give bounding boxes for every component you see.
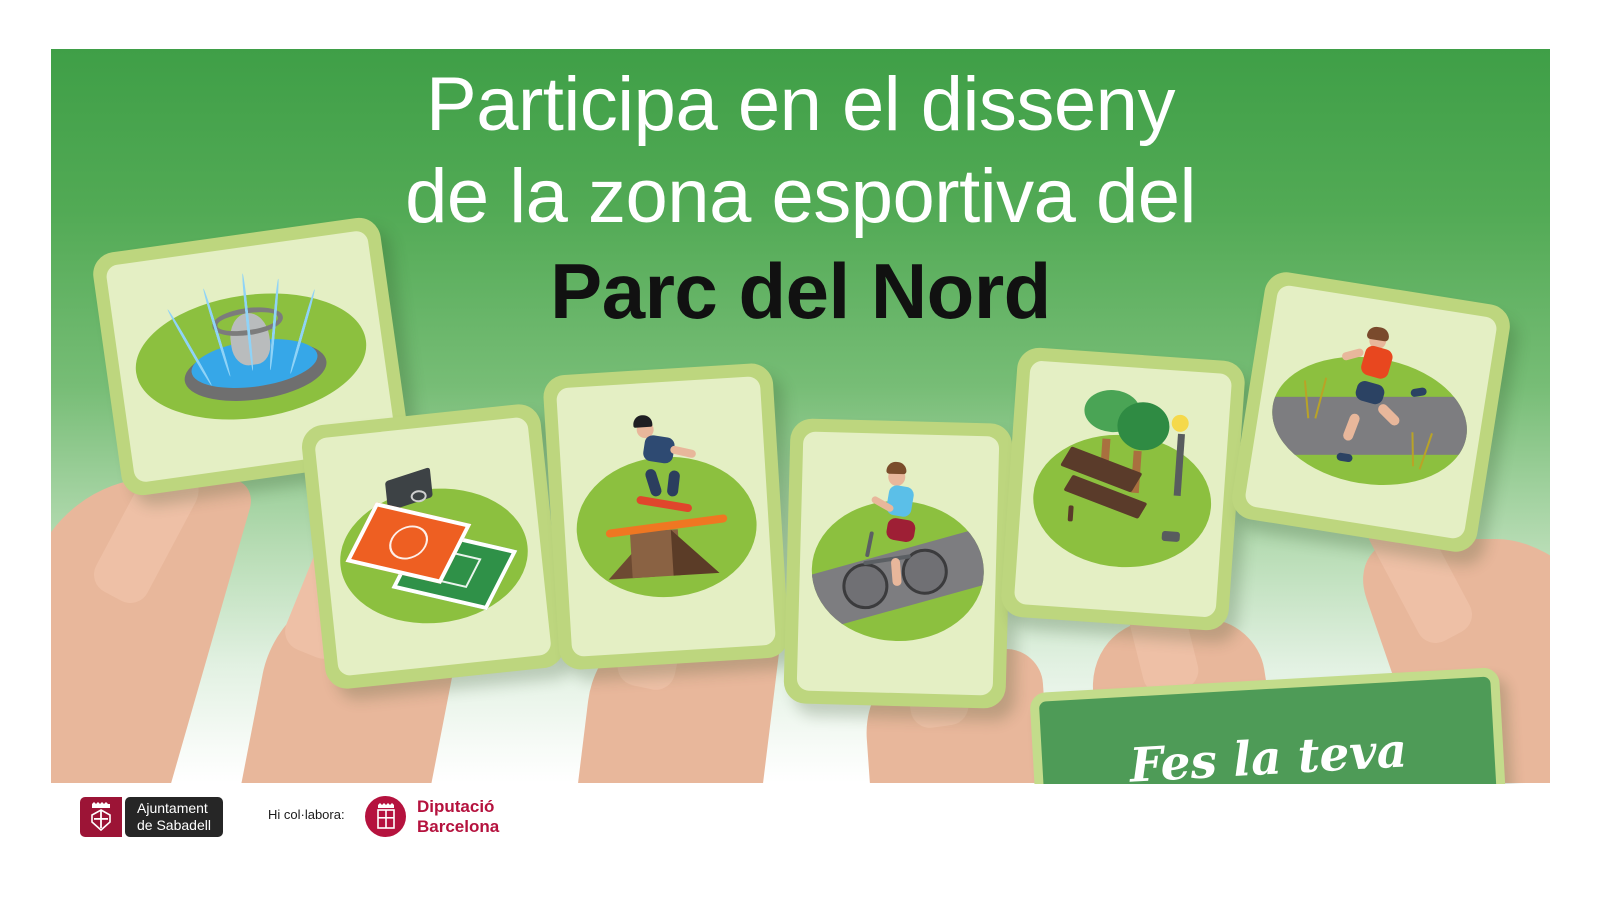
ajuntament-wordmark: Ajuntament de Sabadell	[125, 797, 223, 837]
ajuntament-sabadell-logo[interactable]: Ajuntament de Sabadell	[80, 797, 223, 837]
sports-court-card-face	[314, 416, 552, 676]
ajuntament-line-2: de Sabadell	[137, 817, 211, 834]
running-path-card[interactable]	[1229, 269, 1513, 555]
headline-line-1: Participa en el disseny	[51, 59, 1550, 151]
poster-banner: Participa en el disseny de la zona espor…	[51, 49, 1550, 783]
diputacio-line-2: Barcelona	[417, 817, 499, 837]
ramp-right-icon	[671, 527, 720, 576]
bike-path-card[interactable]	[783, 418, 1012, 709]
sabadell-crest-icon	[80, 797, 122, 837]
skatepark-card-face	[556, 376, 776, 657]
lamppost-base-icon	[1162, 531, 1181, 542]
diputacio-line-1: Diputació	[417, 797, 499, 817]
court-arc-line	[383, 522, 435, 563]
diputacio-wordmark: Diputació Barcelona	[417, 797, 499, 837]
grass-tuft-right-icon	[1411, 433, 1414, 467]
ajuntament-line-1: Ajuntament	[137, 800, 211, 817]
running-path-icon	[1263, 397, 1476, 455]
poster-stage: Participa en el disseny de la zona espor…	[0, 0, 1600, 900]
skatepark-card[interactable]	[542, 362, 790, 670]
diputacio-crest-icon	[365, 796, 406, 837]
diputacio-barcelona-logo[interactable]: Diputació Barcelona	[365, 796, 499, 837]
sports-court-card[interactable]	[300, 402, 566, 691]
bench-tree-card[interactable]	[1000, 346, 1246, 631]
running-path-card-face	[1244, 284, 1498, 540]
bench-tree-card-face	[1014, 360, 1233, 617]
cyclist-hair-icon	[887, 462, 907, 475]
footer-logos: Ajuntament de Sabadell Hi col·labora: Di…	[0, 784, 1600, 900]
skater-hair-icon	[633, 415, 653, 428]
bike-path-card-face	[797, 431, 1000, 695]
collaborator-label: Hi col·labora:	[268, 807, 345, 822]
lamppost-globe-icon	[1172, 414, 1190, 432]
